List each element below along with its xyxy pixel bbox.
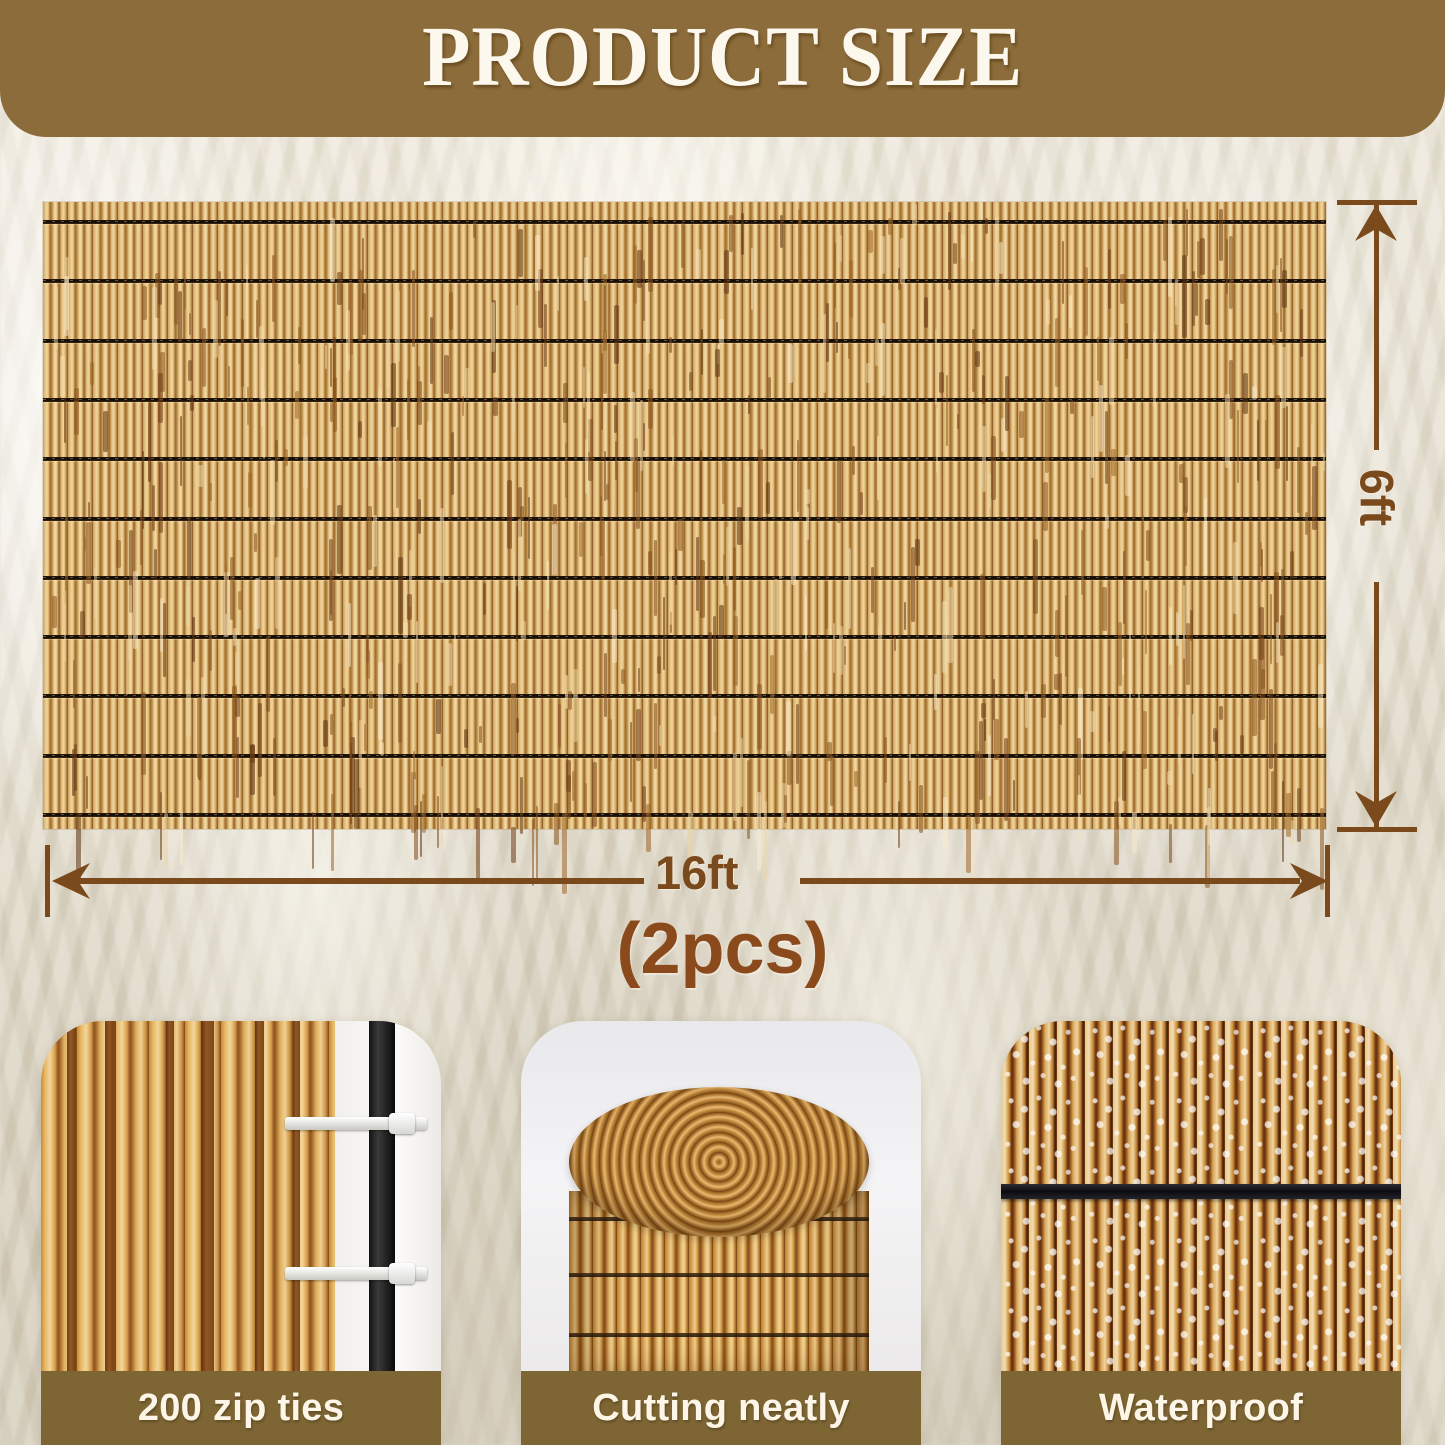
- reed-segment: [520, 777, 523, 834]
- reed-segment: [1132, 812, 1137, 853]
- reed-segment: [1237, 410, 1239, 483]
- height-dimension-label: 6ft: [1350, 468, 1405, 528]
- reed-segment: [1122, 751, 1126, 801]
- reed-segment: [218, 271, 221, 346]
- reed-segment: [238, 591, 242, 610]
- feature-image-zip-ties: [41, 1021, 441, 1371]
- reed-segment: [909, 744, 911, 781]
- reed-segment: [871, 567, 874, 613]
- reed-segment: [512, 361, 515, 434]
- reed-segment: [1105, 515, 1109, 529]
- reed-segment: [140, 510, 142, 565]
- reed-segment: [837, 460, 841, 523]
- reed-segment: [451, 432, 454, 495]
- reed-segment: [1226, 239, 1228, 294]
- reed-segment: [604, 285, 606, 332]
- reed-segment: [159, 462, 163, 533]
- reed-segment: [250, 745, 255, 795]
- reed-segment: [312, 812, 314, 869]
- reed-segment: [805, 596, 807, 651]
- reed-segment: [766, 482, 770, 514]
- reed-segment: [258, 703, 262, 777]
- reed-segment: [198, 465, 203, 487]
- reed-segment: [1175, 279, 1178, 325]
- reed-segment: [1078, 775, 1080, 846]
- reed-segment: [614, 405, 617, 433]
- feature-caption-bar-zip-ties: 200 zip ties: [41, 1371, 441, 1445]
- reed-segment: [894, 636, 896, 651]
- reed-segment: [367, 506, 372, 570]
- reed-segment: [638, 668, 640, 692]
- reed-segment: [133, 571, 138, 649]
- reed-segment: [797, 440, 799, 512]
- reed-segment: [148, 402, 151, 482]
- reed-segment: [700, 560, 705, 618]
- reed-segment: [430, 317, 433, 384]
- reed-segment: [563, 383, 568, 423]
- reed-segment: [184, 278, 186, 309]
- reed-segment: [868, 230, 873, 253]
- reed-segment: [354, 759, 359, 829]
- reed-segment: [444, 355, 449, 394]
- reed-segment: [60, 356, 65, 397]
- feature-card-cutting-neatly: Cutting neatly: [521, 1021, 921, 1445]
- reed-segment: [1286, 793, 1291, 837]
- reed-segment: [657, 656, 661, 674]
- reed-segment: [1286, 406, 1288, 481]
- reed-segment: [393, 458, 395, 511]
- reed-segment: [1129, 635, 1131, 702]
- reed-segment: [1114, 801, 1119, 865]
- reed-segment: [547, 561, 549, 610]
- reed-segment: [640, 400, 643, 471]
- reed-segment: [298, 327, 301, 364]
- reed-segment: [94, 567, 97, 619]
- reed-segment: [90, 362, 94, 385]
- reed-segment: [823, 314, 826, 393]
- reed-segment: [511, 827, 516, 863]
- reed-segment: [988, 735, 991, 796]
- reed-segment: [1252, 386, 1257, 400]
- reed-segment: [1204, 498, 1207, 575]
- reed-segment: [784, 795, 787, 823]
- reed-segment: [1125, 455, 1130, 496]
- reed-segment: [396, 427, 399, 508]
- reed-segment: [228, 366, 230, 397]
- reed-segment: [202, 328, 206, 387]
- reed-segment: [587, 372, 590, 452]
- reed-segment: [584, 783, 587, 818]
- reed-segment: [724, 250, 729, 294]
- reed-segment: [88, 502, 90, 518]
- reed-segment: [86, 522, 91, 584]
- reed-segment: [437, 796, 439, 848]
- reed-segment: [669, 552, 672, 625]
- reed-segment: [1142, 711, 1147, 769]
- reed-segment: [957, 414, 959, 429]
- vertical-dimension-arrow-down-icon: [1353, 789, 1399, 829]
- reed-segment: [235, 652, 239, 685]
- reed-segment: [225, 566, 227, 614]
- reed-segment: [708, 632, 712, 698]
- reed-segment: [934, 674, 937, 710]
- reed-segment: [849, 260, 853, 318]
- reed-segment: [465, 368, 470, 398]
- reed-segment: [825, 581, 828, 629]
- reed-segment: [64, 398, 66, 443]
- reed-segment: [643, 423, 645, 451]
- reed-segment: [342, 688, 345, 707]
- reed-segment: [719, 605, 724, 639]
- reed-segment: [373, 515, 377, 567]
- reed-segment: [852, 446, 855, 475]
- reed-segment: [733, 547, 736, 611]
- reed-segment: [386, 339, 390, 389]
- reed-segment: [1065, 595, 1067, 677]
- reed-segment: [726, 527, 729, 586]
- reed-segment: [1178, 717, 1181, 765]
- reed-segment: [369, 691, 373, 709]
- quantity-label: (2pcs): [0, 908, 1445, 990]
- reed-segment: [1257, 420, 1259, 481]
- reed-segment: [248, 472, 252, 508]
- reed-segment: [1252, 659, 1257, 736]
- reed-segment: [418, 366, 420, 408]
- reed-segment: [1004, 738, 1008, 821]
- reed-segment: [1153, 332, 1156, 407]
- reed-segment: [791, 521, 796, 585]
- reed-segment: [1265, 420, 1268, 456]
- reed-segment: [1005, 376, 1009, 431]
- reed-segment: [80, 611, 85, 638]
- header-banner: PRODUCT SIZE: [0, 0, 1445, 137]
- reed-segment: [1069, 295, 1072, 328]
- reed-segment: [323, 720, 328, 747]
- reed-segment: [325, 345, 327, 369]
- reed-segment: [713, 616, 716, 691]
- reed-segment: [247, 387, 249, 425]
- reed-segment: [1281, 347, 1286, 408]
- reed-segment: [1043, 482, 1048, 531]
- feature-caption-text: 200 zip ties: [138, 1387, 344, 1430]
- reed-segment: [971, 226, 973, 262]
- reed-segment: [1062, 241, 1064, 304]
- reed-segment: [646, 804, 651, 852]
- reed-segment: [1097, 337, 1099, 381]
- reed-segment: [999, 242, 1003, 274]
- reed-segment: [440, 508, 444, 583]
- reed-segment: [946, 375, 948, 446]
- reed-segment: [1192, 714, 1194, 774]
- reed-segment: [330, 348, 332, 387]
- reed-segment: [378, 662, 383, 740]
- reed-segment: [875, 339, 879, 366]
- reed-segment: [1033, 539, 1038, 614]
- reed-segment: [733, 753, 737, 821]
- binding-wire: [43, 457, 1326, 461]
- reed-segment: [798, 209, 801, 283]
- reed-segment: [1297, 447, 1300, 513]
- reed-segment: [584, 257, 588, 301]
- reed-segment: [848, 548, 851, 629]
- horizontal-dimension-arrow-right-icon: [1288, 861, 1330, 901]
- reed-segment: [329, 539, 333, 621]
- reed-segment: [535, 235, 540, 291]
- reed-segment: [788, 344, 793, 383]
- reed-segment: [1271, 771, 1274, 830]
- reed-segment: [366, 650, 370, 679]
- reed-segment: [516, 305, 518, 339]
- reed-segment: [701, 329, 703, 375]
- reed-segment: [226, 283, 228, 316]
- reed-segment: [171, 359, 173, 393]
- reed-segment: [398, 663, 402, 743]
- page-title: PRODUCT SIZE: [422, 13, 1023, 99]
- reed-segment: [715, 349, 720, 377]
- reed-segment: [64, 603, 66, 662]
- reed-segment: [1122, 658, 1124, 675]
- reed-segment: [1046, 299, 1050, 325]
- horizontal-dimension-right-tick: [1325, 845, 1330, 917]
- reed-segment: [827, 742, 832, 761]
- reed-segment: [427, 421, 432, 458]
- reed-segment: [939, 372, 944, 393]
- reed-segment: [602, 520, 605, 580]
- reed-segment: [152, 485, 155, 531]
- reed-segment: [860, 492, 863, 515]
- reed-segment: [982, 426, 986, 492]
- reed-segment: [1013, 780, 1015, 811]
- reed-segment: [884, 737, 887, 783]
- reed-segment: [1099, 385, 1103, 452]
- reed-segment: [407, 594, 412, 620]
- reed-segment: [636, 460, 640, 529]
- reed-segment: [848, 342, 850, 359]
- binding-wire: [43, 398, 1326, 402]
- reed-segment: [65, 517, 68, 591]
- reed-segment: [275, 557, 280, 629]
- reed-segment: [1176, 612, 1179, 646]
- reed-segment: [1233, 542, 1238, 614]
- reed-segment: [422, 794, 426, 833]
- reed-segment: [700, 450, 702, 522]
- reed-segment: [614, 305, 619, 364]
- reed-segment: [491, 302, 495, 352]
- vertical-dimension-arrow-up-icon: [1353, 203, 1399, 243]
- reed-segment: [528, 497, 530, 559]
- reed-segment: [1145, 590, 1147, 654]
- reed-segment: [985, 218, 988, 234]
- reed-segment: [834, 243, 836, 308]
- reed-segment: [751, 248, 753, 310]
- reed-segment: [116, 540, 121, 568]
- reed-segment: [235, 695, 240, 717]
- reed-segment: [407, 379, 410, 440]
- reed-segment: [263, 390, 265, 459]
- reed-segment: [768, 377, 771, 398]
- reed-segment: [233, 628, 237, 646]
- reed-segment: [1041, 684, 1046, 718]
- reed-segment: [174, 278, 178, 325]
- reed-segment: [1318, 664, 1323, 728]
- reed-segment: [1219, 706, 1223, 720]
- reed-segment: [722, 460, 725, 504]
- reed-segment: [630, 722, 632, 802]
- reed-segment: [568, 691, 572, 710]
- reed-segment: [73, 660, 75, 708]
- reed-segment: [1169, 607, 1172, 665]
- reed-segment: [420, 801, 422, 857]
- reed-segment: [1109, 337, 1114, 405]
- reed-segment: [275, 440, 278, 482]
- reed-segment: [1305, 512, 1308, 535]
- reed-segment: [303, 436, 308, 488]
- reed-segment: [511, 683, 516, 755]
- reed-segment: [1243, 373, 1248, 414]
- reed-segment: [346, 310, 350, 371]
- reed-segment: [186, 679, 191, 737]
- reed-segment: [953, 243, 957, 264]
- reed-segment: [412, 270, 415, 347]
- reed-segment: [948, 212, 951, 290]
- reed-segment: [557, 276, 559, 311]
- reed-segment: [1272, 269, 1276, 345]
- reed-segment: [436, 699, 441, 734]
- reed-segment: [448, 643, 452, 686]
- reed-segment: [844, 646, 846, 665]
- reed-segment: [830, 755, 834, 806]
- reed-segment: [904, 602, 906, 630]
- reed-segment: [554, 803, 559, 845]
- reed-segment: [669, 337, 672, 353]
- reed-segment: [943, 797, 948, 849]
- reed-segment: [689, 372, 693, 391]
- reed-segment: [464, 729, 468, 748]
- feature-card-waterproof: Waterproof: [1001, 1021, 1401, 1445]
- reed-segment: [1190, 610, 1193, 641]
- horizontal-dimension-line-left: [66, 878, 644, 884]
- reed-segment: [521, 621, 526, 640]
- reed-segment: [942, 601, 947, 673]
- reed-segment: [796, 704, 799, 784]
- reed-segment: [1070, 400, 1074, 414]
- reed-segment: [1163, 220, 1167, 261]
- width-dimension-label: 16ft: [655, 845, 739, 900]
- reed-segment: [259, 326, 264, 399]
- reed-segment: [418, 499, 421, 534]
- reed-segment: [606, 484, 609, 500]
- reed-segment: [572, 771, 575, 801]
- feature-card-zip-ties: 200 zip ties: [41, 1021, 441, 1445]
- reed-segment: [1290, 551, 1294, 579]
- reed-segment: [552, 524, 557, 575]
- reed-segment: [1186, 209, 1188, 256]
- reed-segment: [919, 785, 923, 833]
- reed-segment: [898, 801, 900, 848]
- reed-segment: [758, 449, 763, 518]
- reed-segment: [1182, 255, 1187, 338]
- reed-segment: [566, 760, 571, 792]
- reed-segment: [1276, 265, 1279, 313]
- reed-segment: [993, 679, 995, 720]
- reed-segment: [1045, 398, 1049, 473]
- reed-segment: [681, 223, 684, 268]
- reed-segment: [806, 507, 809, 540]
- reed-segment: [103, 411, 108, 452]
- reed-segment: [1102, 587, 1107, 631]
- reed-segment: [403, 622, 408, 638]
- reed-segment: [573, 669, 578, 742]
- reed-segment: [180, 812, 183, 866]
- reed-segment: [192, 617, 195, 662]
- reed-segment: [646, 282, 650, 354]
- reed-segment: [991, 436, 996, 500]
- reed-segment: [476, 808, 480, 883]
- feature-caption-bar-cutting-neatly: Cutting neatly: [521, 1371, 921, 1445]
- reed-segment: [1059, 673, 1062, 725]
- reed-segment: [1118, 622, 1122, 686]
- reed-segment: [414, 805, 418, 860]
- reed-segment: [454, 627, 456, 681]
- reed-segment: [643, 260, 645, 321]
- product-reed-fence-image: [43, 202, 1326, 829]
- feature-caption-text: Cutting neatly: [592, 1387, 850, 1430]
- reed-segment: [615, 441, 617, 480]
- reed-segment: [1183, 477, 1188, 513]
- reed-segment: [764, 801, 767, 881]
- reed-segment: [713, 716, 716, 732]
- reed-segment: [256, 300, 258, 338]
- reed-segment: [1195, 283, 1198, 316]
- reed-segment: [1091, 416, 1094, 478]
- horizontal-dimension-line-right: [800, 878, 1300, 884]
- reed-segment: [209, 630, 212, 671]
- reed-segment: [380, 742, 384, 756]
- reed-segment: [774, 579, 778, 635]
- reed-segment: [186, 586, 190, 626]
- reed-segment: [984, 719, 986, 741]
- reed-segment: [518, 229, 523, 277]
- reed-segment: [915, 539, 920, 566]
- feature-caption-text: Waterproof: [1099, 1387, 1303, 1430]
- reed-segment: [513, 552, 515, 599]
- reed-segment: [1312, 466, 1317, 530]
- reed-segment: [961, 234, 965, 259]
- reed-segment: [924, 297, 928, 328]
- reed-segment: [1169, 824, 1172, 863]
- reed-segment: [395, 290, 400, 362]
- reed-segment: [672, 436, 674, 466]
- reed-segment: [975, 751, 980, 824]
- reed-segment: [493, 397, 498, 416]
- binding-wire: [43, 576, 1326, 580]
- reed-segment: [128, 585, 132, 660]
- reed-segment: [230, 557, 234, 620]
- reed-segment: [64, 276, 69, 336]
- binding-wire: [1001, 1184, 1401, 1199]
- reed-segment: [579, 522, 583, 557]
- reed-segment: [648, 551, 652, 575]
- reed-segment: [1229, 236, 1233, 309]
- reed-segment: [378, 388, 382, 466]
- reed-segment: [966, 815, 971, 873]
- reed-segment: [1167, 771, 1172, 785]
- reed-segment: [158, 282, 162, 305]
- reed-segment: [180, 416, 182, 486]
- reed-segment: [633, 245, 637, 304]
- reed-segment: [163, 603, 166, 677]
- reed-segment: [141, 692, 146, 775]
